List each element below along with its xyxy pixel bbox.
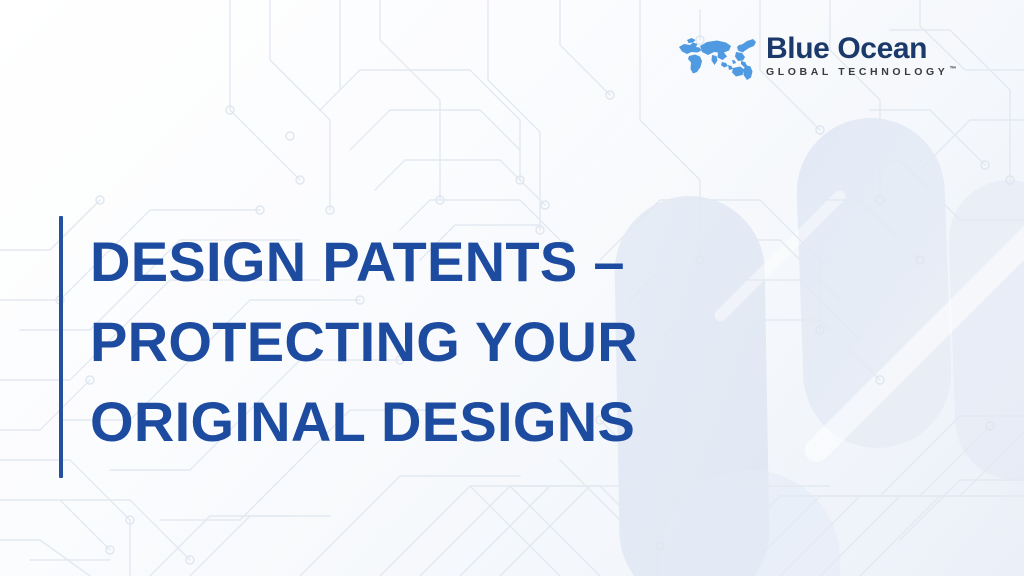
title-block: DESIGN PATENTS – PROTECTING YOUR ORIGINA… xyxy=(59,216,638,478)
accent-bar xyxy=(59,216,63,478)
logo-secondary-text: GLOBAL TECHNOLOGY xyxy=(766,67,948,78)
title-line-1: DESIGN PATENTS – xyxy=(90,222,638,302)
world-map-icon xyxy=(672,32,756,80)
brand-logo[interactable]: Blue Ocean GLOBAL TECHNOLOGY ™ xyxy=(672,32,956,80)
page-title: DESIGN PATENTS – PROTECTING YOUR ORIGINA… xyxy=(90,216,638,478)
title-line-3: ORIGINAL DESIGNS xyxy=(90,382,638,462)
title-slide: Blue Ocean GLOBAL TECHNOLOGY ™ DESIGN PA… xyxy=(0,0,1024,576)
logo-primary-text: Blue Ocean xyxy=(766,34,927,64)
title-line-2: PROTECTING YOUR xyxy=(90,302,638,382)
logo-wordmark: Blue Ocean GLOBAL TECHNOLOGY ™ xyxy=(766,34,956,78)
trademark-symbol: ™ xyxy=(949,66,956,73)
